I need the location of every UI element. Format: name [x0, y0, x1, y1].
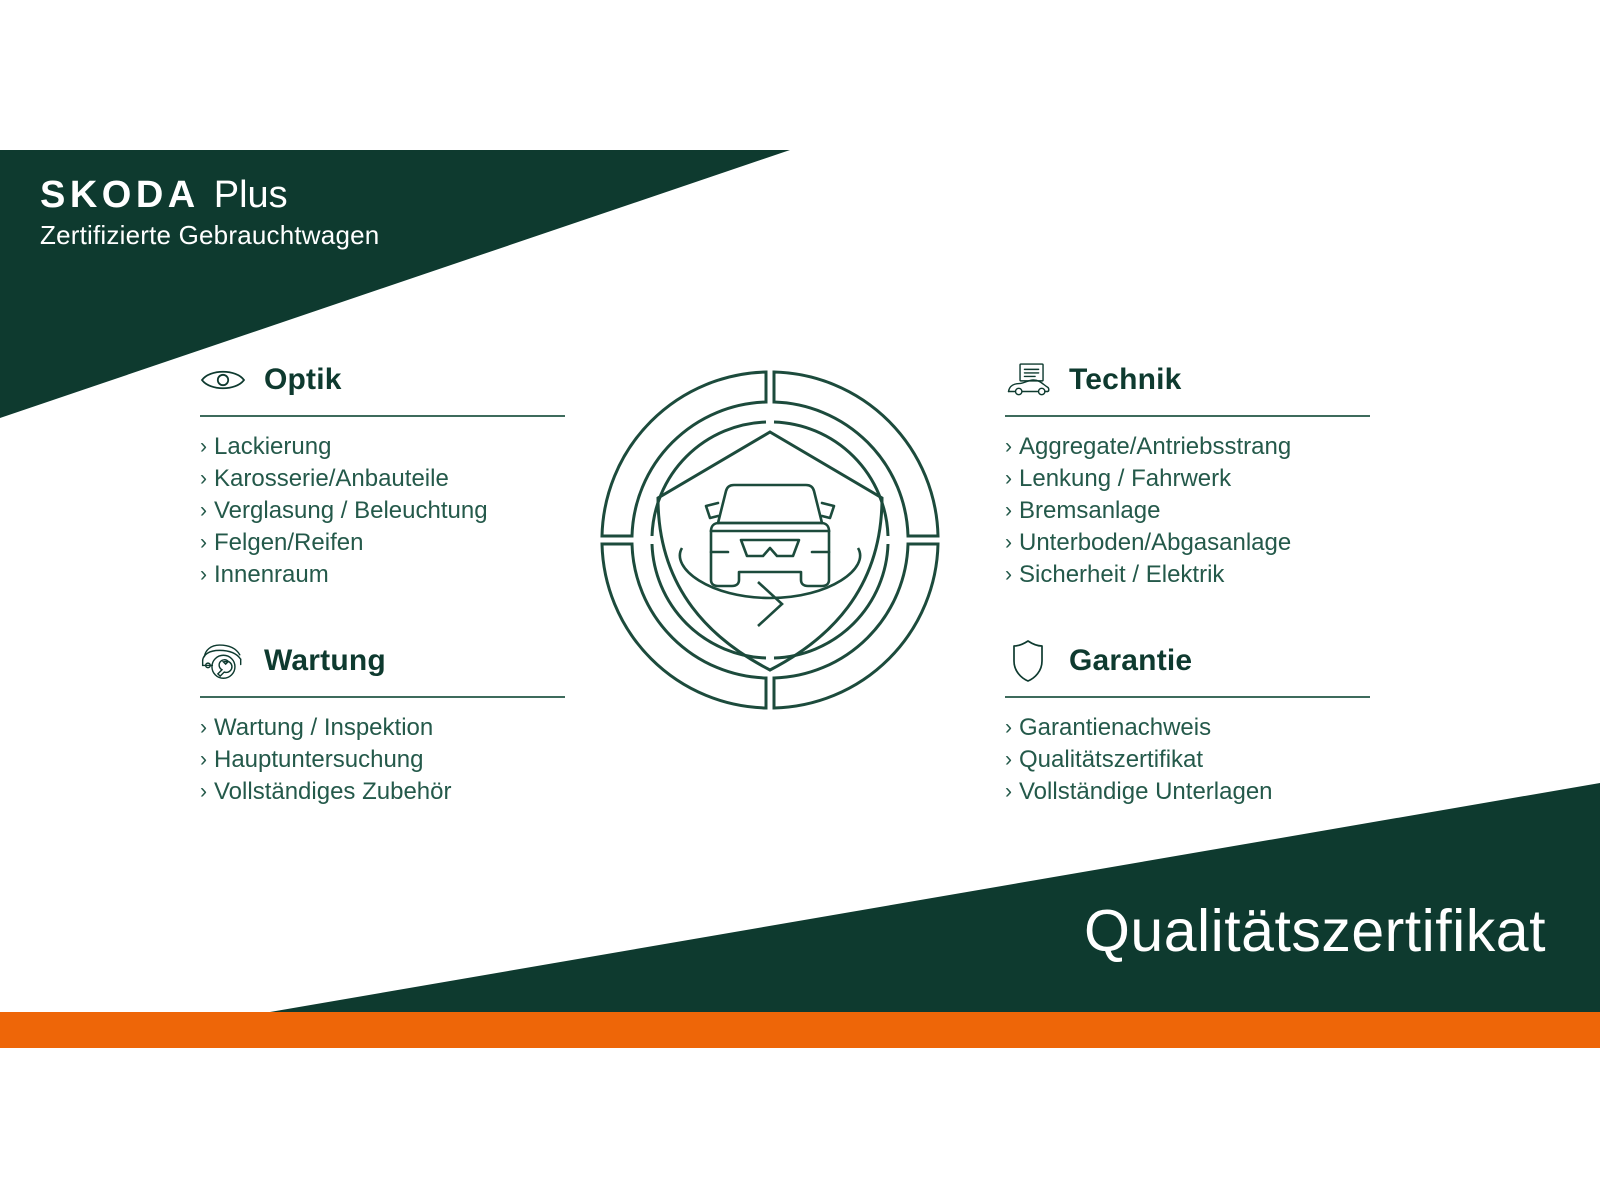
category-header: Wartung: [200, 636, 565, 686]
list-item-label: Vollständiges Zubehör: [214, 776, 452, 808]
list-item: ›Garantienachweis: [1005, 712, 1370, 744]
list-item-label: Qualitätszertifikat: [1019, 744, 1203, 776]
chevron-right-icon: ›: [1005, 527, 1019, 559]
list-item-label: Vollständige Unterlagen: [1019, 776, 1273, 808]
category-wartung: Wartung ›Wartung / Inspektion ›Hauptunte…: [200, 636, 565, 808]
brand-suffix: Plus: [214, 176, 288, 214]
list-item: ›Karosserie/Anbauteile: [200, 463, 565, 495]
category-optik: Optik ›Lackierung ›Karosserie/Anbauteile…: [200, 355, 565, 591]
list-item: ›Unterboden/Abgasanlage: [1005, 527, 1370, 559]
list-item-label: Innenraum: [214, 559, 329, 591]
list-item-label: Bremsanlage: [1019, 495, 1160, 527]
car-wrench-icon: [200, 641, 246, 681]
category-header: Optik: [200, 355, 565, 405]
chevron-right-icon: ›: [1005, 463, 1019, 495]
orbit-arrow: [680, 548, 860, 626]
chevron-right-icon: ›: [200, 712, 214, 744]
list-item-label: Lenkung / Fahrwerk: [1019, 463, 1231, 495]
chevron-right-icon: ›: [200, 527, 214, 559]
chevron-right-icon: ›: [1005, 712, 1019, 744]
eye-icon: [200, 360, 246, 400]
chevron-right-icon: ›: [200, 431, 214, 463]
chevron-right-icon: ›: [200, 463, 214, 495]
list-item-label: Felgen/Reifen: [214, 527, 363, 559]
certificate-slide: SKODA Plus Zertifizierte Gebrauchtwagen …: [0, 0, 1600, 1200]
list-item: ›Lackierung: [200, 431, 565, 463]
shield-outline: [658, 432, 882, 670]
list-item: ›Lenkung / Fahrwerk: [1005, 463, 1370, 495]
chevron-right-icon: ›: [200, 744, 214, 776]
chevron-right-icon: ›: [200, 559, 214, 591]
category-item-list: ›Wartung / Inspektion ›Hauptuntersuchung…: [200, 712, 565, 808]
list-item-label: Verglasung / Beleuchtung: [214, 495, 488, 527]
list-item: ›Verglasung / Beleuchtung: [200, 495, 565, 527]
list-item-label: Sicherheit / Elektrik: [1019, 559, 1224, 591]
list-item: ›Qualitätszertifikat: [1005, 744, 1370, 776]
list-item: ›Aggregate/Antriebsstrang: [1005, 431, 1370, 463]
brand-lockup: SKODA Plus Zertifizierte Gebrauchtwagen: [40, 176, 379, 251]
chevron-right-icon: ›: [200, 776, 214, 808]
certified-vehicle-emblem: [570, 340, 970, 740]
category-header: Garantie: [1005, 636, 1370, 686]
category-item-list: ›Aggregate/Antriebsstrang ›Lenkung / Fah…: [1005, 431, 1370, 591]
category-divider: [1005, 696, 1370, 698]
list-item-label: Garantienachweis: [1019, 712, 1211, 744]
car-front-icon: [706, 485, 834, 586]
shield-icon: [1005, 641, 1051, 681]
chevron-right-icon: ›: [1005, 744, 1019, 776]
orange-accent-bar: [0, 1012, 1600, 1048]
list-item: ›Vollständiges Zubehör: [200, 776, 565, 808]
category-divider: [1005, 415, 1370, 417]
chevron-right-icon: ›: [1005, 776, 1019, 808]
category-title: Wartung: [264, 646, 386, 676]
category-title: Technik: [1069, 365, 1182, 395]
category-garantie: Garantie ›Garantienachweis ›Qualitätszer…: [1005, 636, 1370, 808]
category-item-list: ›Garantienachweis ›Qualitätszertifikat ›…: [1005, 712, 1370, 808]
list-item-label: Unterboden/Abgasanlage: [1019, 527, 1291, 559]
category-technik: Technik ›Aggregate/Antriebsstrang ›Lenku…: [1005, 355, 1370, 591]
list-item: ›Bremsanlage: [1005, 495, 1370, 527]
list-item-label: Lackierung: [214, 431, 331, 463]
category-divider: [200, 696, 565, 698]
list-item-label: Hauptuntersuchung: [214, 744, 423, 776]
list-item-label: Karosserie/Anbauteile: [214, 463, 449, 495]
category-header: Technik: [1005, 355, 1370, 405]
list-item: ›Hauptuntersuchung: [200, 744, 565, 776]
category-title: Optik: [264, 365, 342, 395]
chevron-right-icon: ›: [1005, 495, 1019, 527]
list-item: ›Innenraum: [200, 559, 565, 591]
category-item-list: ›Lackierung ›Karosserie/Anbauteile ›Verg…: [200, 431, 565, 591]
category-divider: [200, 415, 565, 417]
car-document-icon: [1005, 360, 1051, 400]
page-title: Qualitätszertifikat: [1084, 898, 1546, 966]
chevron-right-icon: ›: [1005, 559, 1019, 591]
list-item: ›Felgen/Reifen: [200, 527, 565, 559]
list-item: ›Sicherheit / Elektrik: [1005, 559, 1370, 591]
chevron-right-icon: ›: [200, 495, 214, 527]
chevron-right-icon: ›: [1005, 431, 1019, 463]
brand-name: SKODA: [40, 176, 200, 214]
list-item-label: Aggregate/Antriebsstrang: [1019, 431, 1291, 463]
list-item: ›Vollständige Unterlagen: [1005, 776, 1370, 808]
category-title: Garantie: [1069, 646, 1192, 676]
list-item: ›Wartung / Inspektion: [200, 712, 565, 744]
brand-tagline: Zertifizierte Gebrauchtwagen: [40, 220, 379, 251]
list-item-label: Wartung / Inspektion: [214, 712, 433, 744]
